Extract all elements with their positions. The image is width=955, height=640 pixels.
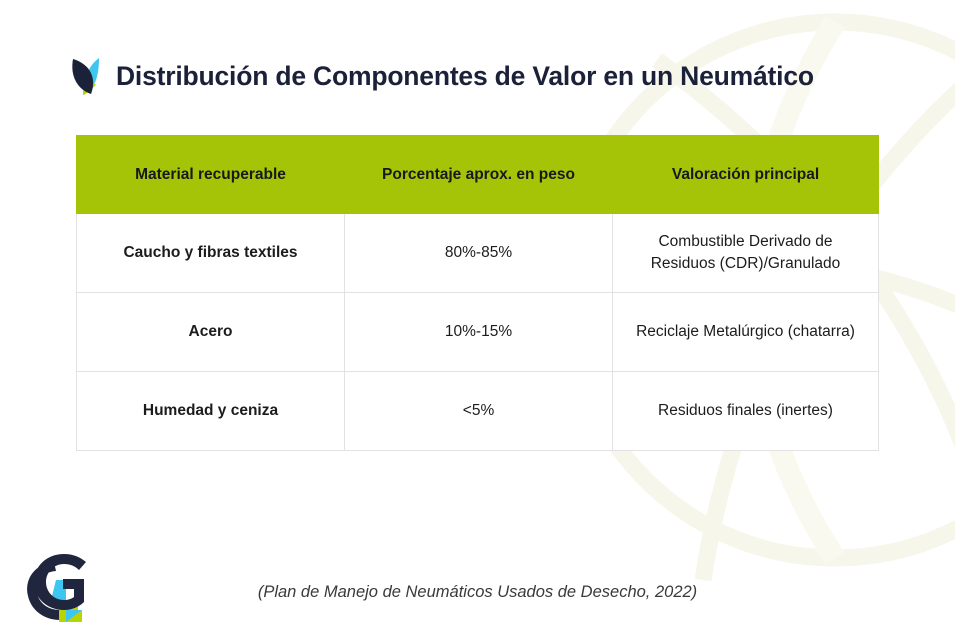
cell-porcentaje: 80%-85% [345,214,613,293]
column-header-material: Material recuperable [77,136,345,214]
value-distribution-table: Material recuperable Porcentaje aprox. e… [76,135,878,451]
table-row: Caucho y fibras textiles 80%-85% Combust… [77,214,879,293]
g-leaf-logo-icon [18,548,96,628]
cell-valoracion: Residuos finales (inertes) [613,372,879,451]
table-header-row: Material recuperable Porcentaje aprox. e… [77,136,879,214]
cell-valoracion: Reciclaje Metalúrgico (chatarra) [613,293,879,372]
leaf-logo-icon [70,56,102,96]
source-caption: (Plan de Manejo de Neumáticos Usados de … [0,583,955,602]
slide-page: Distribución de Componentes de Valor en … [0,0,955,640]
cell-porcentaje: <5% [345,372,613,451]
cell-material: Caucho y fibras textiles [77,214,345,293]
cell-material: Humedad y ceniza [77,372,345,451]
page-title: Distribución de Componentes de Valor en … [116,61,814,92]
column-header-porcentaje: Porcentaje aprox. en peso [345,136,613,214]
cell-material: Acero [77,293,345,372]
cell-porcentaje: 10%-15% [345,293,613,372]
column-header-valoracion: Valoración principal [613,136,879,214]
page-header: Distribución de Componentes de Valor en … [70,56,814,96]
cell-valoracion: Combustible Derivado de Residuos (CDR)/G… [613,214,879,293]
table-row: Humedad y ceniza <5% Residuos finales (i… [77,372,879,451]
table-row: Acero 10%-15% Reciclaje Metalúrgico (cha… [77,293,879,372]
